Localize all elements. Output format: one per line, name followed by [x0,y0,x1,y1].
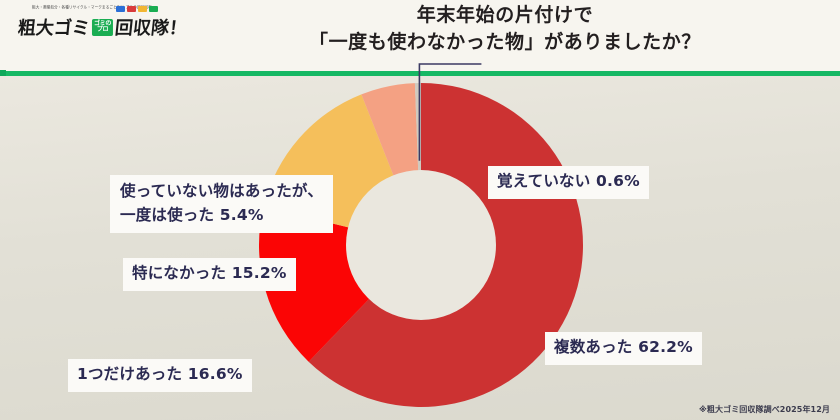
infographic-root: 粗大・廃棄処分・各種リサイクル・マークまるごとOK！ゴミの即日回収 粗大ゴミ ゴ… [0,0,840,420]
donut-hole [346,170,496,320]
logo-green-badge: ゴミの プロ [92,19,113,36]
title-line-1: 年末年始の片付けで [175,2,835,29]
donut-chart [256,80,586,410]
title-line-2: 「一度も使わなかった物」がありましたか？ [175,29,835,56]
mini-badge-3 [138,6,147,12]
slice-label-one-text: 1つだけあった 16.6% [77,363,243,387]
slice-label-multiple: 複数あった 62.2% [545,332,702,365]
slice-label-remember-text: 覚えていない 0.6% [497,170,640,194]
mini-badge-4 [149,6,158,12]
slice-label-one: 1つだけあった 16.6% [68,359,252,392]
logo-wordmark: 粗大ゴミ ゴミの プロ 回収隊！ [17,14,189,40]
mini-badge-2 [127,6,136,12]
chart-panel: 覚えていない 0.6% 使っていない物はあったが、 一度は使った 5.4% 特に… [0,76,840,420]
header-bar: 粗大・廃棄処分・各種リサイクル・マークまるごとOK！ゴミの即日回収 粗大ゴミ ゴ… [0,0,840,70]
source-footnote: ※粗大ゴミ回収隊調べ2025年12月 [699,404,830,415]
logo-mini-badges [116,6,158,12]
slice-label-multiple-text: 複数あった 62.2% [554,336,693,360]
slice-label-none: 特になかった 15.2% [123,258,296,291]
logo-badge-line2: プロ [94,27,111,33]
slice-label-used-once: 使っていない物はあったが、 一度は使った 5.4% [110,175,333,233]
slice-label-used-once-line2: 一度は使った 5.4% [120,204,323,228]
slice-label-none-text: 特になかった 15.2% [132,262,287,286]
mini-badge-1 [116,6,125,12]
slice-label-remember: 覚えていない 0.6% [488,166,649,199]
slice-label-used-once-line1: 使っていない物はあったが、 [120,180,323,204]
page-title: 年末年始の片付けで 「一度も使わなかった物」がありましたか？ [175,2,835,56]
brand-logo[interactable]: 粗大・廃棄処分・各種リサイクル・マークまるごとOK！ゴミの即日回収 粗大ゴミ ゴ… [12,4,172,44]
logo-text-before: 粗大ゴミ [17,14,92,40]
donut-chart-svg [256,80,586,410]
